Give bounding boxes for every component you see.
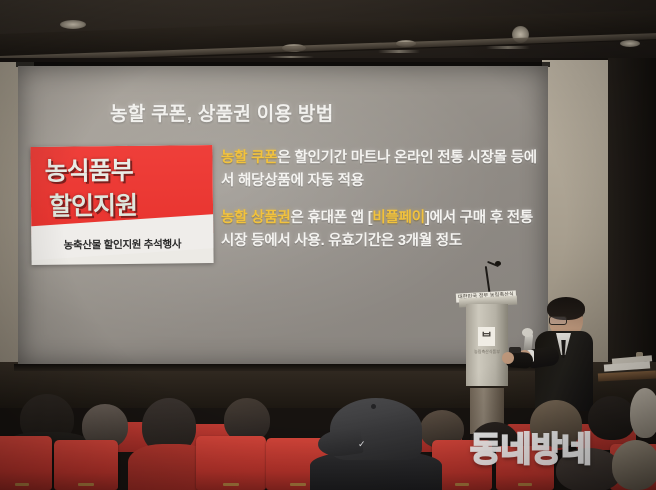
paragraph-1-highlight: 농할 쿠폰 bbox=[221, 150, 277, 166]
promo-poster: 농식품부 할인지원 농축산물 할인지원 추석행사 bbox=[30, 145, 213, 265]
poster-line-2: 할인지원 bbox=[49, 185, 209, 223]
seat bbox=[0, 436, 52, 490]
poster-line-1: 농식품부 bbox=[44, 150, 204, 188]
audience-head bbox=[612, 440, 656, 490]
poster-caption: 농축산물 할인지원 추석행사 bbox=[31, 236, 213, 253]
slide-paragraph-2: 농할 상품권은 휴대폰 앱 [비플페이]에서 구매 후 전통시장 등에서 사용.… bbox=[221, 207, 539, 253]
seat bbox=[54, 440, 118, 490]
speaker-hand-left bbox=[502, 352, 514, 364]
ceiling-light bbox=[620, 40, 640, 47]
watermark: 동네방네 bbox=[470, 422, 591, 471]
slide-title: 농할 쿠폰, 상품권 이용 방법 bbox=[110, 99, 333, 126]
paragraph-2-highlight-2: 비플페이 bbox=[372, 210, 425, 226]
podium-logo-caption: 농림축산식품부 bbox=[472, 349, 502, 355]
podium-logo: ᄇ bbox=[478, 327, 495, 346]
microphone-head-icon bbox=[522, 328, 533, 337]
paragraph-2-highlight: 농할 상품권 bbox=[221, 210, 291, 226]
cap-swoosh-icon: ✓ bbox=[358, 440, 380, 448]
photo-scene: 농할 쿠폰, 상품권 이용 방법 농식품부 할인지원 농축산물 할인지원 추석행… bbox=[0, 0, 656, 490]
slide-body-text: 농할 쿠폰은 할인기간 마트나 온라인 전통 시장몰 등에서 해당상품에 자동 … bbox=[221, 147, 539, 267]
audience-head bbox=[630, 388, 656, 438]
wall-dark-right bbox=[608, 58, 656, 398]
audience-head bbox=[588, 396, 636, 440]
ceiling-light bbox=[60, 20, 86, 29]
paragraph-2-mid: 은 휴대폰 앱 [ bbox=[291, 210, 373, 226]
ceiling-light-strip bbox=[378, 50, 420, 53]
cap-button bbox=[371, 404, 376, 409]
seat bbox=[196, 436, 266, 490]
slide-paragraph-1: 농할 쿠폰은 할인기간 마트나 온라인 전통 시장몰 등에서 해당상품에 자동 … bbox=[221, 147, 539, 193]
ceiling-light-strip bbox=[486, 46, 530, 49]
speaker-glasses-icon bbox=[549, 316, 567, 325]
